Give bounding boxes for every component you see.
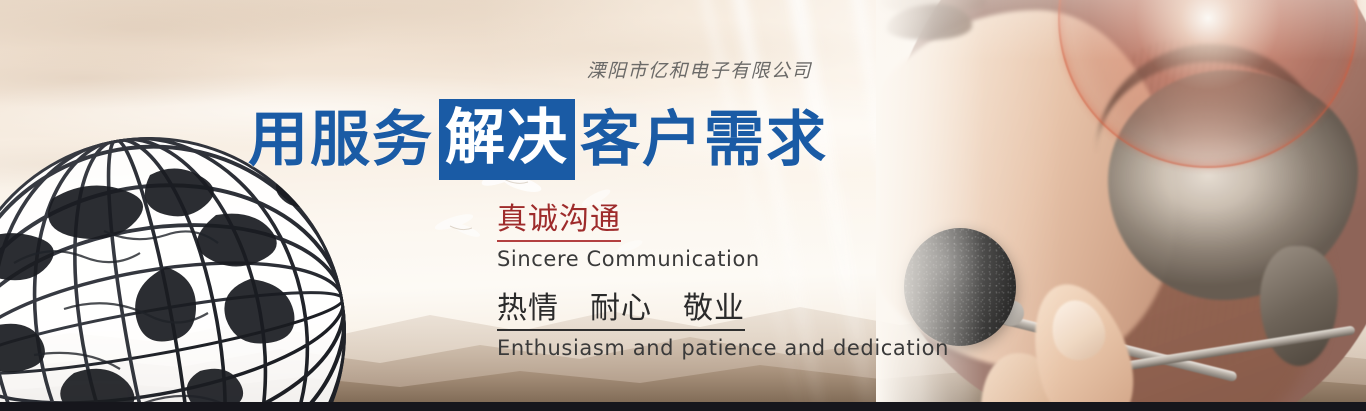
headline-highlight: 解决 [439,99,575,180]
headline-part-after: 客户需求 [580,104,828,176]
banner-text-content: 溧阳市亿和电子有限公司 用服务解决客户需求 真诚沟通 Sincere Commu… [0,0,900,403]
slogan-english-dedication: Enthusiasm and patience and dedication [497,334,949,362]
slogan-chinese-dedication: 热情 耐心 敬业 [497,291,745,331]
slogan-english-communication: Sincere Communication [497,245,949,273]
customer-service-agent-photo [876,0,1366,403]
slogan-row-communication: 真诚沟通 Sincere Communication [497,202,949,273]
headline-part-before: 用服务 [248,104,434,176]
slogan-chinese-communication: 真诚沟通 [497,202,621,242]
slogan-row-dedication: 热情 耐心 敬业 Enthusiasm and patience and ded… [497,291,949,362]
company-name: 溧阳市亿和电子有限公司 [0,56,812,83]
headline: 用服务解决客户需求 [248,99,828,180]
bottom-bar [0,402,1366,411]
promotional-banner: 溧阳市亿和电子有限公司 用服务解决客户需求 真诚沟通 Sincere Commu… [0,0,1366,411]
slogan-block: 真诚沟通 Sincere Communication 热情 耐心 敬业 Enth… [497,202,949,372]
